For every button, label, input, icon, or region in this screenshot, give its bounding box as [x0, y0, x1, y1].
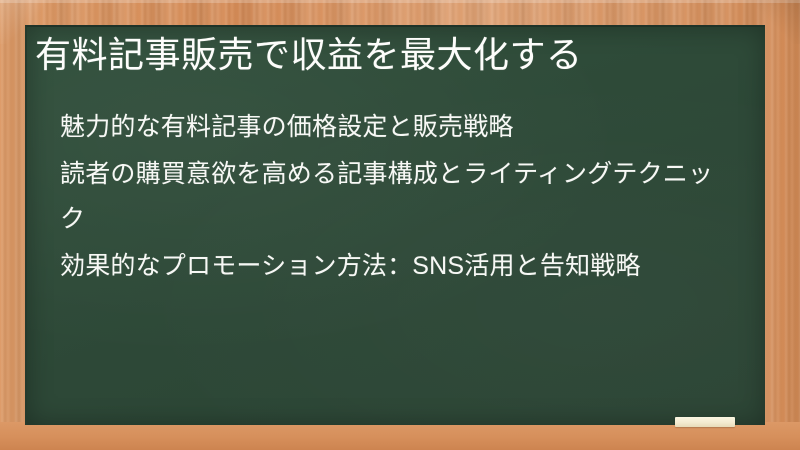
- board-content: 有料記事販売で収益を最大化する 魅力的な有料記事の価格設定と販売戦略 読者の購買…: [27, 27, 765, 425]
- chalkboard-surface: 有料記事販売で収益を最大化する 魅力的な有料記事の価格設定と販売戦略 読者の購買…: [25, 25, 765, 425]
- board-bullet-list: 魅力的な有料記事の価格設定と販売戦略 読者の購買意欲を高める記事構成とライティン…: [60, 105, 732, 291]
- board-title: 有料記事販売で収益を最大化する: [35, 32, 755, 77]
- blackboard-frame: 有料記事販売で収益を最大化する 魅力的な有料記事の価格設定と販売戦略 読者の購買…: [0, 0, 800, 450]
- board-bullet-item-2: 読者の購買意欲を高める記事構成とライティングテクニック: [60, 152, 732, 242]
- board-bullet-item-1: 魅力的な有料記事の価格設定と販売戦略: [60, 105, 732, 150]
- frame-top-highlight: [0, 0, 800, 3]
- board-bullet-item-3: 効果的なプロモーション方法：SNS活用と告知戦略: [60, 244, 732, 289]
- chalk-stick-icon: [675, 417, 735, 427]
